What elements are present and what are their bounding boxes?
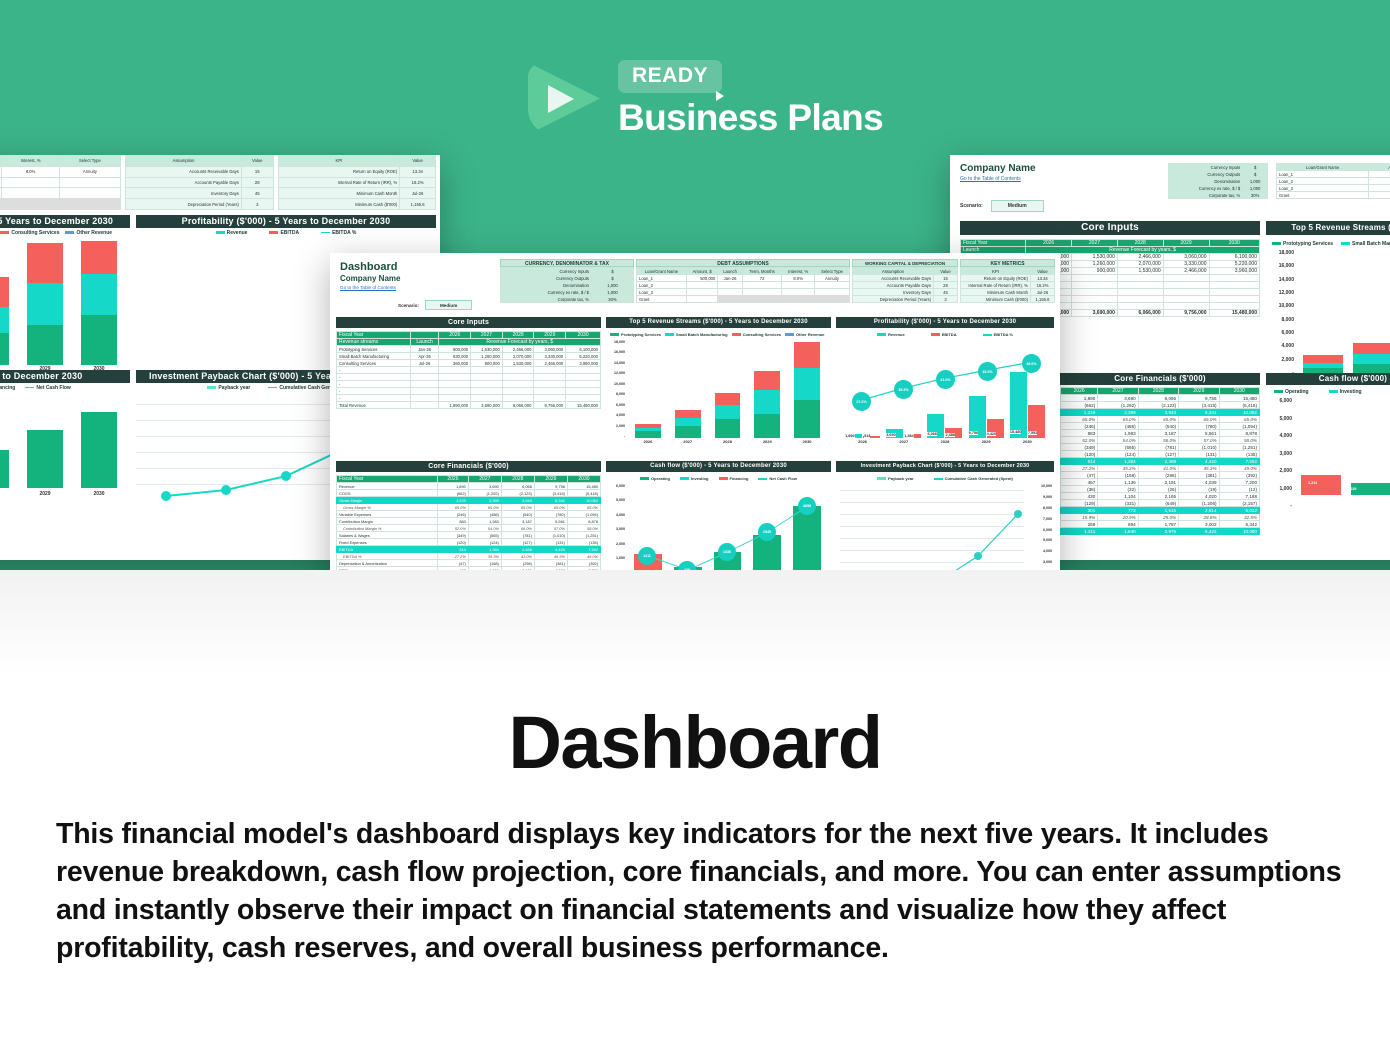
scenario-selector[interactable]: Medium	[425, 300, 472, 310]
kpi-panel-title: KEY METRICS	[960, 259, 1055, 267]
table-row: 52.0%54.0%56.0%57.0%58.0%	[1061, 437, 1260, 444]
core-financials-body: Revenue1,8903,6906,0669,75615,480COGS(66…	[337, 483, 601, 571]
ebitda-pct-2029: 45.3%	[978, 362, 997, 381]
table-row: EBITDA %27.2%35.3%41.0%45.3%49.0%	[337, 553, 601, 560]
ebitda-pct-2030: 49.0%	[1022, 354, 1041, 373]
currency-panel-title: CURRENCY, DENOMINATOR & TAX	[500, 259, 634, 267]
ncf-2030: 4658	[798, 497, 816, 515]
core-financials-table-right: 2026 2027 2028 2029 2030 1,8903,6906,066…	[1060, 387, 1260, 535]
brand-name-text: Business Plans	[618, 97, 883, 138]
table-row: Fixed Expenses(120)(124)(127)(131)(135)	[337, 539, 601, 546]
i-dot-play-icon	[716, 91, 724, 101]
debt-table-right: Loan/Grant Name Amount, $ Launch Term, M…	[1276, 163, 1390, 199]
poster-page: READY Business Plans Amount, $ Launch Te…	[0, 0, 1390, 1043]
chart-plot-revenue-right: 18,000 16,000 14,000 12,000 10,000 8,000…	[1266, 248, 1390, 388]
table-row: Contribution Margin8831,9833,1875,5618,8…	[337, 518, 601, 525]
ncf-2028: 1336	[718, 543, 736, 561]
chart-legend-payback: Payback year Cumulative Cash Generated (…	[836, 474, 1054, 482]
currency-table-right: Currency Inputs$ Currency Outputs$ Denom…	[1168, 163, 1268, 199]
white-background	[0, 570, 1390, 1043]
chart-legend-profitability-left: Revenue EBITDA EBITDA %	[136, 228, 436, 237]
wc-panel-table: AssumptionValue Accounts Receivable Days…	[852, 267, 958, 303]
table-row: 65.0%65.0%65.0%65.0%65.0%	[1061, 416, 1260, 423]
table-row: 1,2292,3993,9436,34110,062	[1061, 409, 1260, 416]
page-title: Dashboard	[0, 700, 1390, 785]
sheet-company-name-right: Company Name	[960, 163, 1160, 174]
ready-badge: READY	[618, 60, 722, 93]
chart-legend-cashflow-left: Operating Investing Financing Net Cash F…	[0, 383, 130, 392]
ebitda-pct-2026: 27.2%	[852, 392, 871, 411]
core-financials-title: Core Financials ($'000)	[336, 461, 601, 472]
toc-link[interactable]: Go to the Table of Contents	[340, 285, 500, 290]
key-metrics-table-left: KPI Value Return on Equity (ROE)13.34 In…	[278, 155, 436, 210]
table-row: Contribution Margin %52.0%54.0%56.0%57.0…	[337, 525, 601, 532]
table-row: (47)(168)(298)(381)(392)	[1061, 472, 1260, 479]
scenario-label: Scenario:	[398, 303, 419, 308]
chart-plot-cashflow-left: 629 1,336 2,545 4,658 2026 2027 2028 202…	[0, 392, 130, 522]
chart-title-profitability-left: Profitability ($'000) - 5 Years to Decem…	[136, 215, 436, 228]
table-row: 3017731,5152,8145,032	[1061, 507, 1260, 514]
bar-2028	[715, 342, 741, 438]
chart-legend-revenue-streams: Prototyping Services Small Batch Manufac…	[606, 330, 831, 338]
table-row: EBIT4671,1362,1914,0397,200	[337, 567, 601, 571]
bar-2029	[754, 342, 780, 438]
table-row: (246)(486)(540)(780)(1,094)	[1061, 423, 1260, 430]
table-row: 27.2%35.3%41.0%45.3%49.0%	[1061, 465, 1260, 472]
toc-link-right[interactable]: Go to the Table of Contents	[960, 176, 1160, 182]
wc-panel-title: WORKING CAPITAL & DEPRECIATION	[852, 259, 958, 267]
chart-plot-cashflow-right: 6,0005,0004,0003,0002,0001,000- 1,211 62…	[1266, 396, 1390, 521]
hero-band: READY Business Plans Amount, $ Launch Te…	[0, 0, 1390, 570]
table-row: 2698941,7873,0025,342	[1061, 521, 1260, 528]
bar-2026	[635, 342, 661, 438]
chart-cashflow: Operating Investing Financing Net Cash F…	[606, 474, 831, 570]
table-row[interactable]: -	[337, 367, 601, 374]
ebitda-pct-2028: 41.0%	[936, 370, 955, 389]
ncf-2026: 1211	[638, 547, 656, 565]
chart-legend-profitability: Revenue EBITDA EBITDA %	[836, 330, 1054, 338]
table-row: (129)(331)(649)(1,206)(2,157)	[1061, 500, 1260, 507]
table-row: 1,2111,6402,9765,42210,080	[1061, 528, 1260, 535]
debt-panel-table: Loan/Grant Name Amount, $ Launch Term, M…	[636, 267, 850, 303]
currency-panel-table: Currency Inputs$ Currency Outputs$ Denom…	[500, 267, 634, 303]
debt-panel-title: DEBT ASSUMPTIONS	[636, 259, 850, 267]
table-row: (349)(565)(781)(1,010)(1,251)	[1061, 444, 1260, 451]
chart-title-cashflow: Cash flow ($'000) - 5 Years to December …	[606, 461, 831, 472]
table-row: COGS(662)(1,292)(2,123)(3,415)(5,418)	[337, 490, 601, 497]
table-row[interactable]: -	[337, 374, 601, 381]
chart-title-payback: Investment Payback Chart ($'000) - 5 Yea…	[836, 461, 1054, 472]
page-description: This financial model's dashboard display…	[56, 816, 1346, 968]
table-row: 4301,1042,1654,0207,188	[1061, 493, 1260, 500]
table-row: Depreciation & Amortization(47)(168)(298…	[337, 560, 601, 567]
table-row: 5141,3842,4884,4207,592	[1061, 458, 1260, 465]
ebitda-percent-line	[836, 338, 1054, 450]
table-row: 15.9%20.9%25.0%28.8%32.5%	[1061, 514, 1260, 521]
revenue-streams-title-right: Top 5 Revenue Streams ($'000) - 5 Years …	[1266, 221, 1390, 235]
core-inputs-title: Core Inputs	[336, 317, 601, 328]
bar-2030	[794, 342, 820, 438]
chart-revenue-streams: Prototyping Services Small Batch Manufac…	[606, 330, 831, 455]
core-inputs-body: Prototyping ServicesJan-26900,0001,530,0…	[337, 346, 601, 402]
scenario-label-right: Scenario:	[960, 203, 983, 209]
table-row: Salaries & Wages(349)(565)(781)(1,010)(1…	[337, 532, 601, 539]
payback-line	[840, 482, 1030, 570]
chart-legend-cashflow: Operating Investing Financing Net Cash F…	[606, 474, 831, 482]
table-row: (38)(32)(26)(19)(12)	[1061, 486, 1260, 493]
debt-assumptions-table-left: Amount, $ Launch Term, Months Interest, …	[0, 155, 121, 210]
main-dashboard-sheet[interactable]: Dashboard Company Name Go to the Table o…	[330, 253, 1060, 570]
table-row[interactable]: Prototyping ServicesJan-26900,0001,530,0…	[337, 346, 601, 353]
table-row: 4671,1362,1914,0397,200	[1061, 479, 1260, 486]
core-inputs-table: Fiscal Year 2026 2027 2028 2029 2030 Rev…	[336, 331, 601, 409]
chart-profitability: Revenue EBITDA EBITDA % 1,890 514	[836, 330, 1054, 455]
ebitda-pct-2027: 35.3%	[894, 380, 913, 399]
core-financials-title-right: Core Financials ($'000)	[1060, 373, 1260, 385]
table-row: Gross Margin1,2292,3993,9436,34110,062	[337, 497, 601, 504]
table-row: Gross Margin %65.0%65.0%65.0%65.0%65.0%	[337, 504, 601, 511]
table-row: (662)(1,292)(2,123)(3,415)(5,418)	[1061, 402, 1260, 409]
table-row: (120)(124)(127)(131)(135)	[1061, 451, 1260, 458]
chart-title-profitability: Profitability ($'000) - 5 Years to Decem…	[836, 317, 1054, 328]
table-row: 1,8903,6906,0669,75615,480	[1061, 395, 1260, 402]
table-row[interactable]: -	[337, 395, 601, 402]
table-row[interactable]: Small Batch ManufacturingApr-26630,0001,…	[337, 353, 601, 360]
revenue-stream-bars	[628, 342, 827, 438]
sheet-title: Dashboard	[340, 261, 500, 273]
chart-title-revenue-streams: Top 5 Revenue Streams ($'000) - 5 Years …	[606, 317, 831, 328]
table-row: Variable Expenses(246)(486)(540)(780)(1,…	[337, 511, 601, 518]
brand-logo: READY Business Plans	[528, 58, 883, 139]
table-row[interactable]: -	[337, 388, 601, 395]
ncf-2029: 2545	[758, 523, 776, 541]
chart-legend-left: Prototyping Services Small Batch Manufac…	[0, 228, 130, 237]
sheet-company-name: Company Name	[340, 274, 500, 283]
kpi-panel-table: KPIValue Return on Equity (ROE)13.34 Int…	[960, 267, 1055, 303]
scenario-value-right[interactable]: Medium	[991, 200, 1044, 212]
table-row: Revenue1,8903,6906,0669,75615,480	[337, 483, 601, 490]
table-row: 8831,9833,1875,5618,878	[1061, 430, 1260, 437]
chart-title-cashflow-left: Cash flow ($'000) - 5 Years to December …	[0, 370, 130, 383]
cashflow-title-right: Cash flow ($'000) - 5 Years to December …	[1266, 373, 1390, 385]
brand-name: Business Plans	[618, 97, 883, 139]
table-row[interactable]: Consulting ServicesJul-26360,000900,0001…	[337, 360, 601, 367]
chart-plot-revenue-streams-left: 2026 2027 2028 2029 2030	[0, 237, 130, 377]
table-row: EBITDA5141,3842,4884,4207,592	[337, 546, 601, 553]
core-financials-table: Fiscal Year 2026 2027 2028 2029 2030 Rev…	[336, 475, 601, 570]
cf-right-body: 1,8903,6906,0669,75615,480(662)(1,292)(2…	[1061, 395, 1260, 535]
bar-2027	[675, 342, 701, 438]
working-capital-table-left: Assumption Value Accounts Receivable Day…	[125, 155, 274, 210]
core-inputs-title-right: Core Inputs	[960, 221, 1260, 235]
table-row[interactable]: -	[337, 381, 601, 388]
chart-title-revenue-streams-left: Top 5 Revenue Streams ($'000) - 5 Years …	[0, 215, 130, 228]
play-triangle-icon	[528, 63, 600, 135]
chart-payback: Payback year Cumulative Cash Generated (…	[836, 474, 1054, 570]
